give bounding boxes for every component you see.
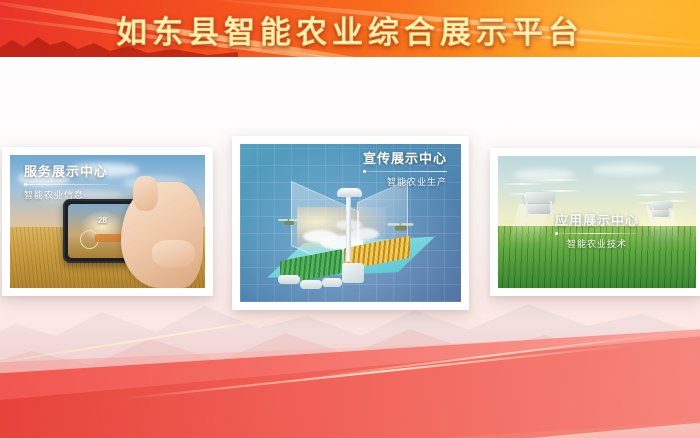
- caption-divider: [24, 184, 108, 185]
- card-promotion-photo: 宣传展示中心 智能农业生产: [240, 144, 461, 302]
- finger: [133, 176, 158, 211]
- card-promotion-caption: 宣传展示中心 智能农业生产: [363, 152, 447, 188]
- cloud-icon: [593, 164, 663, 175]
- card-service-caption: 服务展示中心 智能农业信息: [24, 165, 108, 201]
- hay-roll: [300, 280, 322, 289]
- card-promotion-title: 宣传展示中心: [363, 152, 447, 167]
- card-promotion-display-center[interactable]: 宣传展示中心 智能农业生产: [232, 136, 469, 310]
- drone-icon: [634, 190, 690, 224]
- card-service-title: 服务展示中心: [24, 165, 108, 180]
- hay-roll: [278, 275, 300, 284]
- header-banner: 如东县智能农业综合展示平台: [0, 0, 700, 57]
- caption-divider: [363, 171, 447, 172]
- card-service-subtitle: 智能农业信息: [24, 188, 108, 201]
- card-application-photo: 应用展示中心 智能农业技术: [498, 156, 696, 288]
- card-application-title: 应用展示中心: [555, 214, 639, 229]
- page-title: 如东县智能农业综合展示平台: [0, 7, 700, 52]
- drone-icon: [278, 218, 300, 227]
- pole-lamp-head: [337, 188, 361, 197]
- card-promotion-subtitle: 智能农业生产: [363, 175, 447, 188]
- caption-divider: [555, 233, 639, 234]
- thumb: [152, 240, 195, 267]
- drone-icon: [388, 222, 416, 233]
- card-application-display-center[interactable]: 应用展示中心 智能农业技术: [490, 148, 700, 296]
- temperature-readout: 28: [98, 216, 107, 225]
- page-root: 如东县智能农业综合展示平台: [0, 0, 700, 438]
- light-pole: [346, 191, 351, 262]
- card-application-caption: 应用展示中心 智能农业技术: [555, 214, 639, 250]
- water-tank: [342, 263, 364, 283]
- hay-roll: [322, 278, 342, 287]
- card-service-photo: 28 服务展示中心 智能农业信息: [10, 155, 205, 288]
- card-service-display-center[interactable]: 28 服务展示中心 智能农业信息: [2, 147, 213, 296]
- card-application-subtitle: 智能农业技术: [555, 237, 639, 250]
